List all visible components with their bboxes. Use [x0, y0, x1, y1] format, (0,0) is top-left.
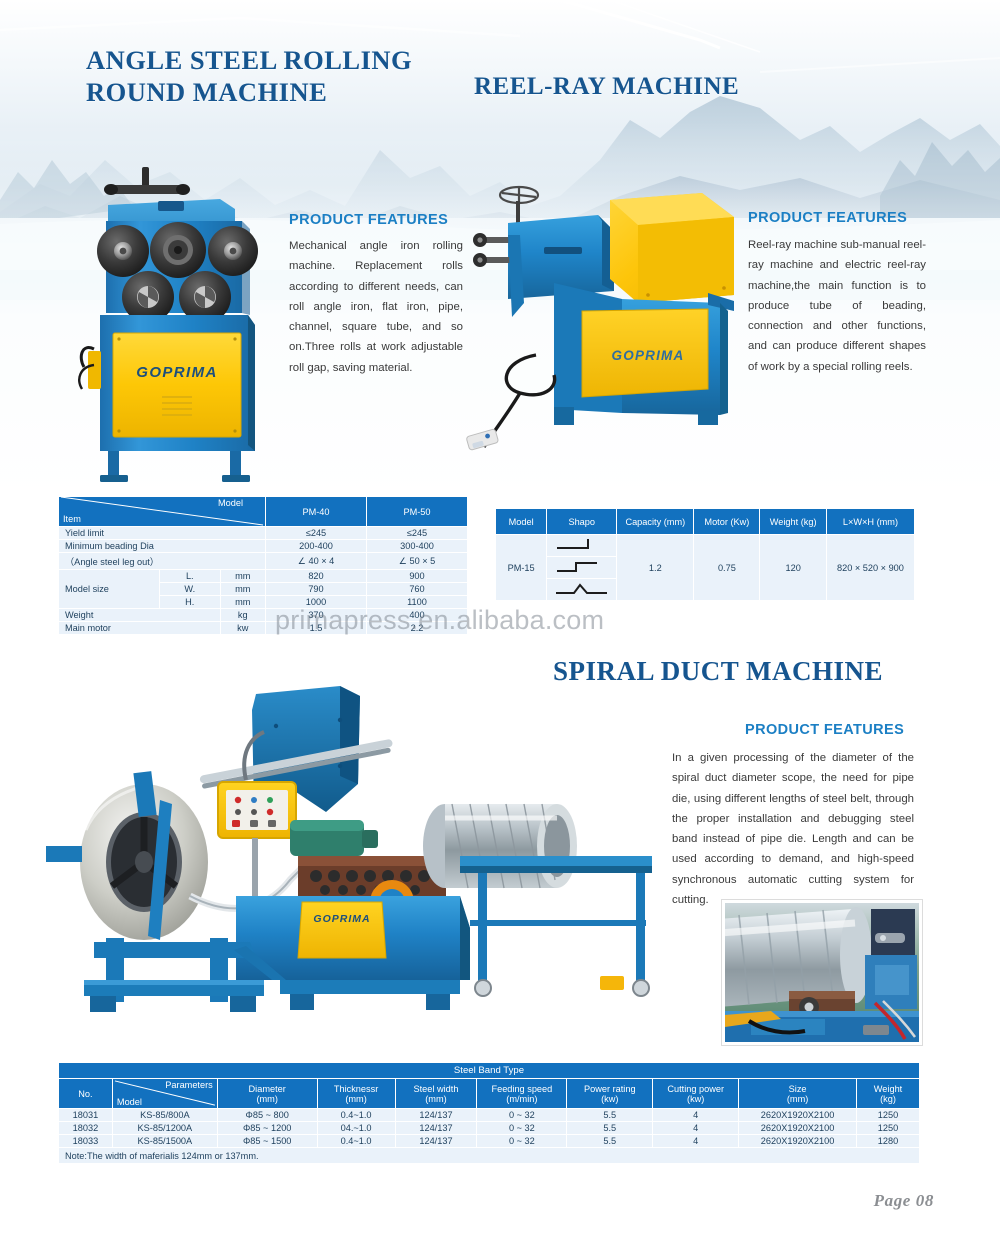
heading-line-1: ANGLE STEEL ROLLING [86, 44, 466, 76]
cell-value: 200-400 [266, 540, 367, 553]
row-label-model-size: Model size [59, 570, 160, 609]
table-note-row: Note:The width of maferialis 124mm or 13… [59, 1148, 920, 1164]
cell-size: 2620X1920X2100 [739, 1122, 857, 1135]
cell-no: 18031 [59, 1109, 113, 1122]
reel-ray-machine-image: GOPRIMA [462, 175, 742, 475]
unit-label: mm [220, 596, 265, 609]
svg-text:GOPRIMA: GOPRIMA [313, 913, 370, 925]
cell-diameter: Φ85 ~ 1500 [217, 1135, 317, 1148]
product-features-body-angle-steel: Mechanical angle iron rolling machine. R… [289, 236, 463, 378]
header-motor: Motor (Kw) [694, 509, 760, 535]
product-features-body-reel-ray: Reel-ray machine sub-manual reel-ray mac… [748, 235, 926, 377]
header-line-1: Steel width [399, 1084, 474, 1094]
table-row-angle-steel-leg-out: （Angle steel leg out） ∠ 40 × 4 ∠ 50 × 5 [59, 553, 468, 570]
product-features-heading-angle-steel: PRODUCT FEATURES [289, 212, 448, 228]
cell-size: 2620X1920X2100 [739, 1109, 857, 1122]
cell-diameter: Φ85 ~ 1200 [217, 1122, 317, 1135]
heading-line-2: ROUND MACHINE [86, 76, 466, 108]
spiral-duct-closeup-photo [722, 900, 922, 1045]
header-line-2: (mm) [221, 1094, 314, 1104]
shape-bead-bump-icon [547, 579, 617, 601]
table-header-row: No. Model Parameters Diameter (mm) Thick… [59, 1079, 920, 1109]
table-note: Note:The width of maferialis 124mm or 13… [59, 1148, 920, 1164]
cell-model: PM-15 [496, 535, 547, 601]
header-thickness: Thicknessr (mm) [317, 1079, 395, 1109]
header-line-1: Weight [860, 1084, 916, 1094]
cell-model: KS-85/1500A [112, 1135, 217, 1148]
svg-text:GOPRIMA: GOPRIMA [612, 348, 685, 363]
cell-no: 18032 [59, 1122, 113, 1135]
row-label: Weight [59, 609, 221, 622]
angle-steel-machine-image: GOPRIMA [70, 165, 300, 485]
header-feeding-speed: Feeding speed (m/min) [477, 1079, 567, 1109]
svg-text:GOPRIMA: GOPRIMA [136, 364, 217, 381]
row-label: Yield limit [59, 527, 266, 540]
table-row-shape-1: PM-15 1.2 0.75 120 820 × 520 × 900 [496, 535, 915, 557]
cell-thickness: 0.4~1.0 [317, 1109, 395, 1122]
header-line-2: (kw) [570, 1094, 649, 1104]
header-cutting-power: Cutting power (kw) [653, 1079, 739, 1109]
heading-reel-ray-machine: REEL-RAY MACHINE [474, 72, 739, 103]
dimension-label: H. [159, 596, 220, 609]
profile-shape-3 [554, 581, 610, 597]
cell-value: 2.2 [366, 622, 467, 635]
header-line-1: Power rating [570, 1084, 649, 1094]
cell-value: 370 [266, 609, 367, 622]
header-steel-width: Steel width (mm) [395, 1079, 477, 1109]
table-row-min-beading-dia: Minimum beading Dia 200-400 300-400 [59, 540, 468, 553]
angle-steel-spec-table: Item Model PM-40 PM-50 Yield limit ≤245 … [58, 496, 468, 635]
cell-weight: 1250 [857, 1122, 920, 1135]
header-shape: Shapo [547, 509, 617, 535]
header-line-2: (mm) [399, 1094, 474, 1104]
cell-thickness: 0.4~1.0 [317, 1135, 395, 1148]
model-column-pm50: PM-50 [366, 497, 467, 527]
header-line-2: (mm) [742, 1094, 853, 1104]
table-row-yield-limit: Yield limit ≤245 ≤245 [59, 527, 468, 540]
header-line-1: Thicknessr [321, 1084, 392, 1094]
cell-power-rating: 5.5 [567, 1109, 653, 1122]
shape-step-up-icon [547, 557, 617, 579]
cell-motor: 0.75 [694, 535, 760, 601]
header-model-label: Model [117, 1097, 142, 1107]
cell-cutting-power: 4 [653, 1135, 739, 1148]
page-number: Page 08 [874, 1191, 934, 1211]
unit-label: kg [220, 609, 265, 622]
cell-value: 1000 [266, 596, 367, 609]
closeup-illustration [725, 903, 919, 1042]
header-model: Model [496, 509, 547, 535]
header-capacity: Capacity (mm) [617, 509, 694, 535]
cell-power-rating: 5.5 [567, 1122, 653, 1135]
product-features-body-spiral-duct: In a given processing of the diameter of… [672, 748, 914, 910]
table-row: 18031 KS-85/800A Φ85 ~ 800 0.4~1.0 124/1… [59, 1109, 920, 1122]
cell-value: ∠ 40 × 4 [266, 553, 367, 570]
spiral-duct-spec-table: Steel Band Type No. Model Parameters Dia… [58, 1062, 920, 1164]
model-column-pm40: PM-40 [266, 497, 367, 527]
unit-label: mm [220, 570, 265, 583]
header-weight: Weight (kg) [760, 509, 826, 535]
profile-shape-1 [554, 537, 610, 553]
cell-value: 1100 [366, 596, 467, 609]
table-row-model-size-length: Model size L. mm 820 900 [59, 570, 468, 583]
cell-value: 400 [366, 609, 467, 622]
header-line-2: (mm) [321, 1094, 392, 1104]
cell-model: KS-85/800A [112, 1109, 217, 1122]
cell-power-rating: 5.5 [567, 1135, 653, 1148]
header-model-label: Model [218, 498, 243, 508]
cell-dimensions: 820 × 520 × 900 [826, 535, 914, 601]
cell-feeding-speed: 0 ~ 32 [477, 1109, 567, 1122]
header-weight: Weight (kg) [857, 1079, 920, 1109]
steel-band-type-title: Steel Band Type [59, 1063, 920, 1079]
header-parameters-label: Parameters [165, 1080, 213, 1090]
shape-step-down-icon [547, 535, 617, 557]
profile-shape-2 [554, 559, 610, 575]
cell-value: 300-400 [366, 540, 467, 553]
product-features-heading-reel-ray: PRODUCT FEATURES [748, 210, 907, 226]
unit-label: kw [220, 622, 265, 635]
dimension-label: W. [159, 583, 220, 596]
heading-angle-steel-machine: ANGLE STEEL ROLLING ROUND MACHINE [86, 44, 466, 109]
header-dimensions: L×W×H (mm) [826, 509, 914, 535]
cell-steel-width: 124/137 [395, 1135, 477, 1148]
table-row: 18032 KS-85/1200A Φ85 ~ 1200 04.~1.0 124… [59, 1122, 920, 1135]
cell-steel-width: 124/137 [395, 1109, 477, 1122]
row-label: Main motor [59, 622, 221, 635]
header-line-2: (m/min) [480, 1094, 563, 1104]
diagonal-header-cell: Item Model [59, 497, 266, 527]
cell-model: KS-85/1200A [112, 1122, 217, 1135]
cell-value: 790 [266, 583, 367, 596]
diagonal-header-cell: Model Parameters [112, 1079, 217, 1109]
row-label: （Angle steel leg out） [59, 553, 266, 570]
cell-value: ≤245 [366, 527, 467, 540]
table-header-row: Item Model PM-40 PM-50 [59, 497, 468, 527]
row-label: Minimum beading Dia [59, 540, 266, 553]
header-line-1: Feeding speed [480, 1084, 563, 1094]
cell-thickness: 04.~1.0 [317, 1122, 395, 1135]
cell-feeding-speed: 0 ~ 32 [477, 1135, 567, 1148]
cell-value: 820 [266, 570, 367, 583]
cell-capacity: 1.2 [617, 535, 694, 601]
cell-size: 2620X1920X2100 [739, 1135, 857, 1148]
header-line-1: Diameter [221, 1084, 314, 1094]
spiral-duct-machine-image: GOPRIMA [40, 680, 660, 1050]
header-diameter: Diameter (mm) [217, 1079, 317, 1109]
cell-weight: 1280 [857, 1135, 920, 1148]
table-row: 18033 KS-85/1500A Φ85 ~ 1500 0.4~1.0 124… [59, 1135, 920, 1148]
table-header-row: Model Shapo Capacity (mm) Motor (Kw) Wei… [496, 509, 915, 535]
dimension-label: L. [159, 570, 220, 583]
cell-value: 1.5 [266, 622, 367, 635]
header-power-rating: Power rating (kw) [567, 1079, 653, 1109]
reel-ray-spec-table: Model Shapo Capacity (mm) Motor (Kw) Wei… [495, 508, 915, 601]
catalog-page: ANGLE STEEL ROLLING ROUND MACHINE REEL-R… [0, 0, 1000, 1239]
header-line-2: (kw) [656, 1094, 735, 1104]
header-no: No. [59, 1079, 113, 1109]
table-row-weight: Weight kg 370 400 [59, 609, 468, 622]
cell-value: ∠ 50 × 5 [366, 553, 467, 570]
product-features-heading-spiral-duct: PRODUCT FEATURES [745, 722, 904, 738]
table-band-title-row: Steel Band Type [59, 1063, 920, 1079]
unit-label: mm [220, 583, 265, 596]
cell-value: 900 [366, 570, 467, 583]
header-item-label: Item [63, 514, 81, 524]
cell-cutting-power: 4 [653, 1109, 739, 1122]
header-size: Size (mm) [739, 1079, 857, 1109]
cell-steel-width: 124/137 [395, 1122, 477, 1135]
header-line-1: Size [742, 1084, 853, 1094]
cell-no: 18033 [59, 1135, 113, 1148]
cell-weight: 1250 [857, 1109, 920, 1122]
cell-value: ≤245 [266, 527, 367, 540]
cell-diameter: Φ85 ~ 800 [217, 1109, 317, 1122]
cell-weight: 120 [760, 535, 826, 601]
header-line-2: (kg) [860, 1094, 916, 1104]
table-row-main-motor: Main motor kw 1.5 2.2 [59, 622, 468, 635]
cell-cutting-power: 4 [653, 1122, 739, 1135]
header-line-1: Cutting power [656, 1084, 735, 1094]
cell-value: 760 [366, 583, 467, 596]
cell-feeding-speed: 0 ~ 32 [477, 1122, 567, 1135]
